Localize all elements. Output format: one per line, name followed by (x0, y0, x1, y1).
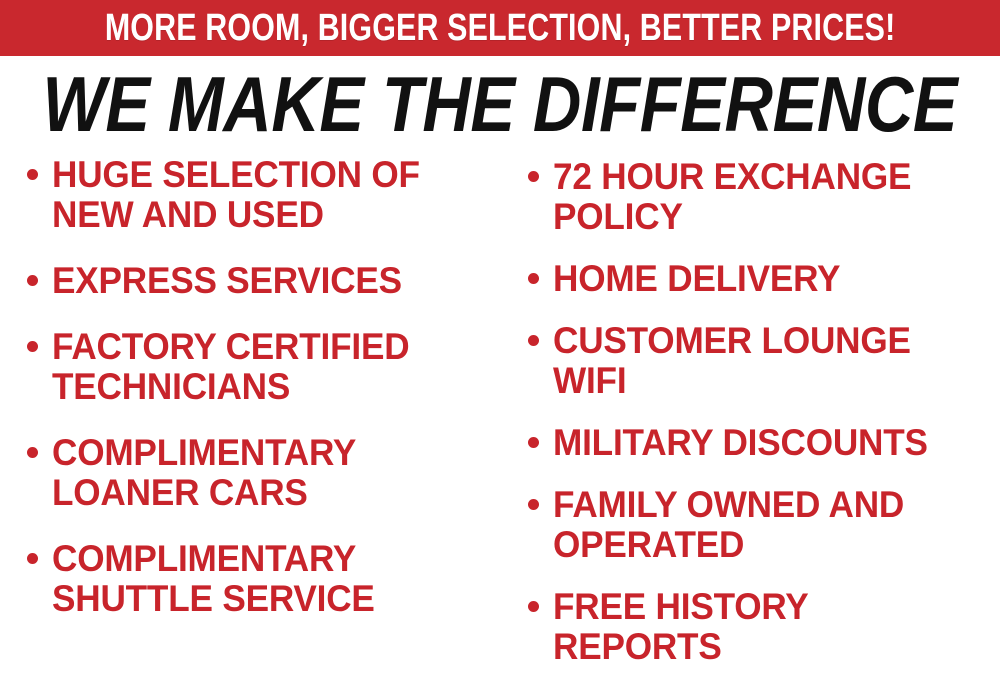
list-item: FREE HISTORY REPORTS (515, 587, 1000, 667)
benefit-label: HOME DELIVERY (553, 259, 978, 299)
list-item: HUGE SELECTION OF NEW AND USED (14, 155, 500, 235)
benefit-list-left: HUGE SELECTION OF NEW AND USED EXPRESS S… (14, 155, 500, 619)
page-title: WE MAKE THE DIFFERENCE (43, 65, 958, 143)
benefit-label: COMPLIMENTARY LOANER CARS (52, 433, 478, 513)
list-item: 72 HOUR EXCHANGE POLICY (515, 157, 1000, 237)
list-item: CUSTOMER LOUNGE WIFI (515, 321, 1000, 401)
benefit-label: MILITARY DISCOUNTS (553, 423, 978, 463)
benefit-label: FAMILY OWNED AND OPERATED (553, 485, 978, 565)
benefit-label: CUSTOMER LOUNGE WIFI (553, 321, 978, 401)
list-item: COMPLIMENTARY SHUTTLE SERVICE (14, 539, 500, 619)
list-item: EXPRESS SERVICES (14, 261, 500, 301)
benefits-column-right: 72 HOUR EXCHANGE POLICY HOME DELIVERY CU… (515, 155, 1000, 694)
benefit-label: COMPLIMENTARY SHUTTLE SERVICE (52, 539, 478, 619)
benefit-label: HUGE SELECTION OF NEW AND USED (52, 155, 478, 235)
list-item: MILITARY DISCOUNTS (515, 423, 1000, 463)
benefit-label: EXPRESS SERVICES (52, 261, 478, 301)
list-item: COMPLIMENTARY LOANER CARS (14, 433, 500, 513)
benefit-label: 72 HOUR EXCHANGE POLICY (553, 157, 978, 237)
benefits-column-left: HUGE SELECTION OF NEW AND USED EXPRESS S… (14, 155, 500, 694)
benefit-label: FACTORY CERTIFIED TECHNICIANS (52, 327, 478, 407)
list-item: FAMILY OWNED AND OPERATED (515, 485, 1000, 565)
dealership-benefits-poster: MORE ROOM, BIGGER SELECTION, BETTER PRIC… (0, 0, 1000, 694)
list-item: HOME DELIVERY (515, 259, 1000, 299)
top-banner: MORE ROOM, BIGGER SELECTION, BETTER PRIC… (0, 0, 1000, 56)
list-item: FACTORY CERTIFIED TECHNICIANS (14, 327, 500, 407)
banner-headline: MORE ROOM, BIGGER SELECTION, BETTER PRIC… (105, 9, 896, 47)
benefit-label: FREE HISTORY REPORTS (553, 587, 978, 667)
benefits-columns: HUGE SELECTION OF NEW AND USED EXPRESS S… (0, 155, 1000, 694)
benefit-list-right: 72 HOUR EXCHANGE POLICY HOME DELIVERY CU… (515, 155, 1000, 667)
main-headline-area: WE MAKE THE DIFFERENCE (0, 60, 1000, 148)
